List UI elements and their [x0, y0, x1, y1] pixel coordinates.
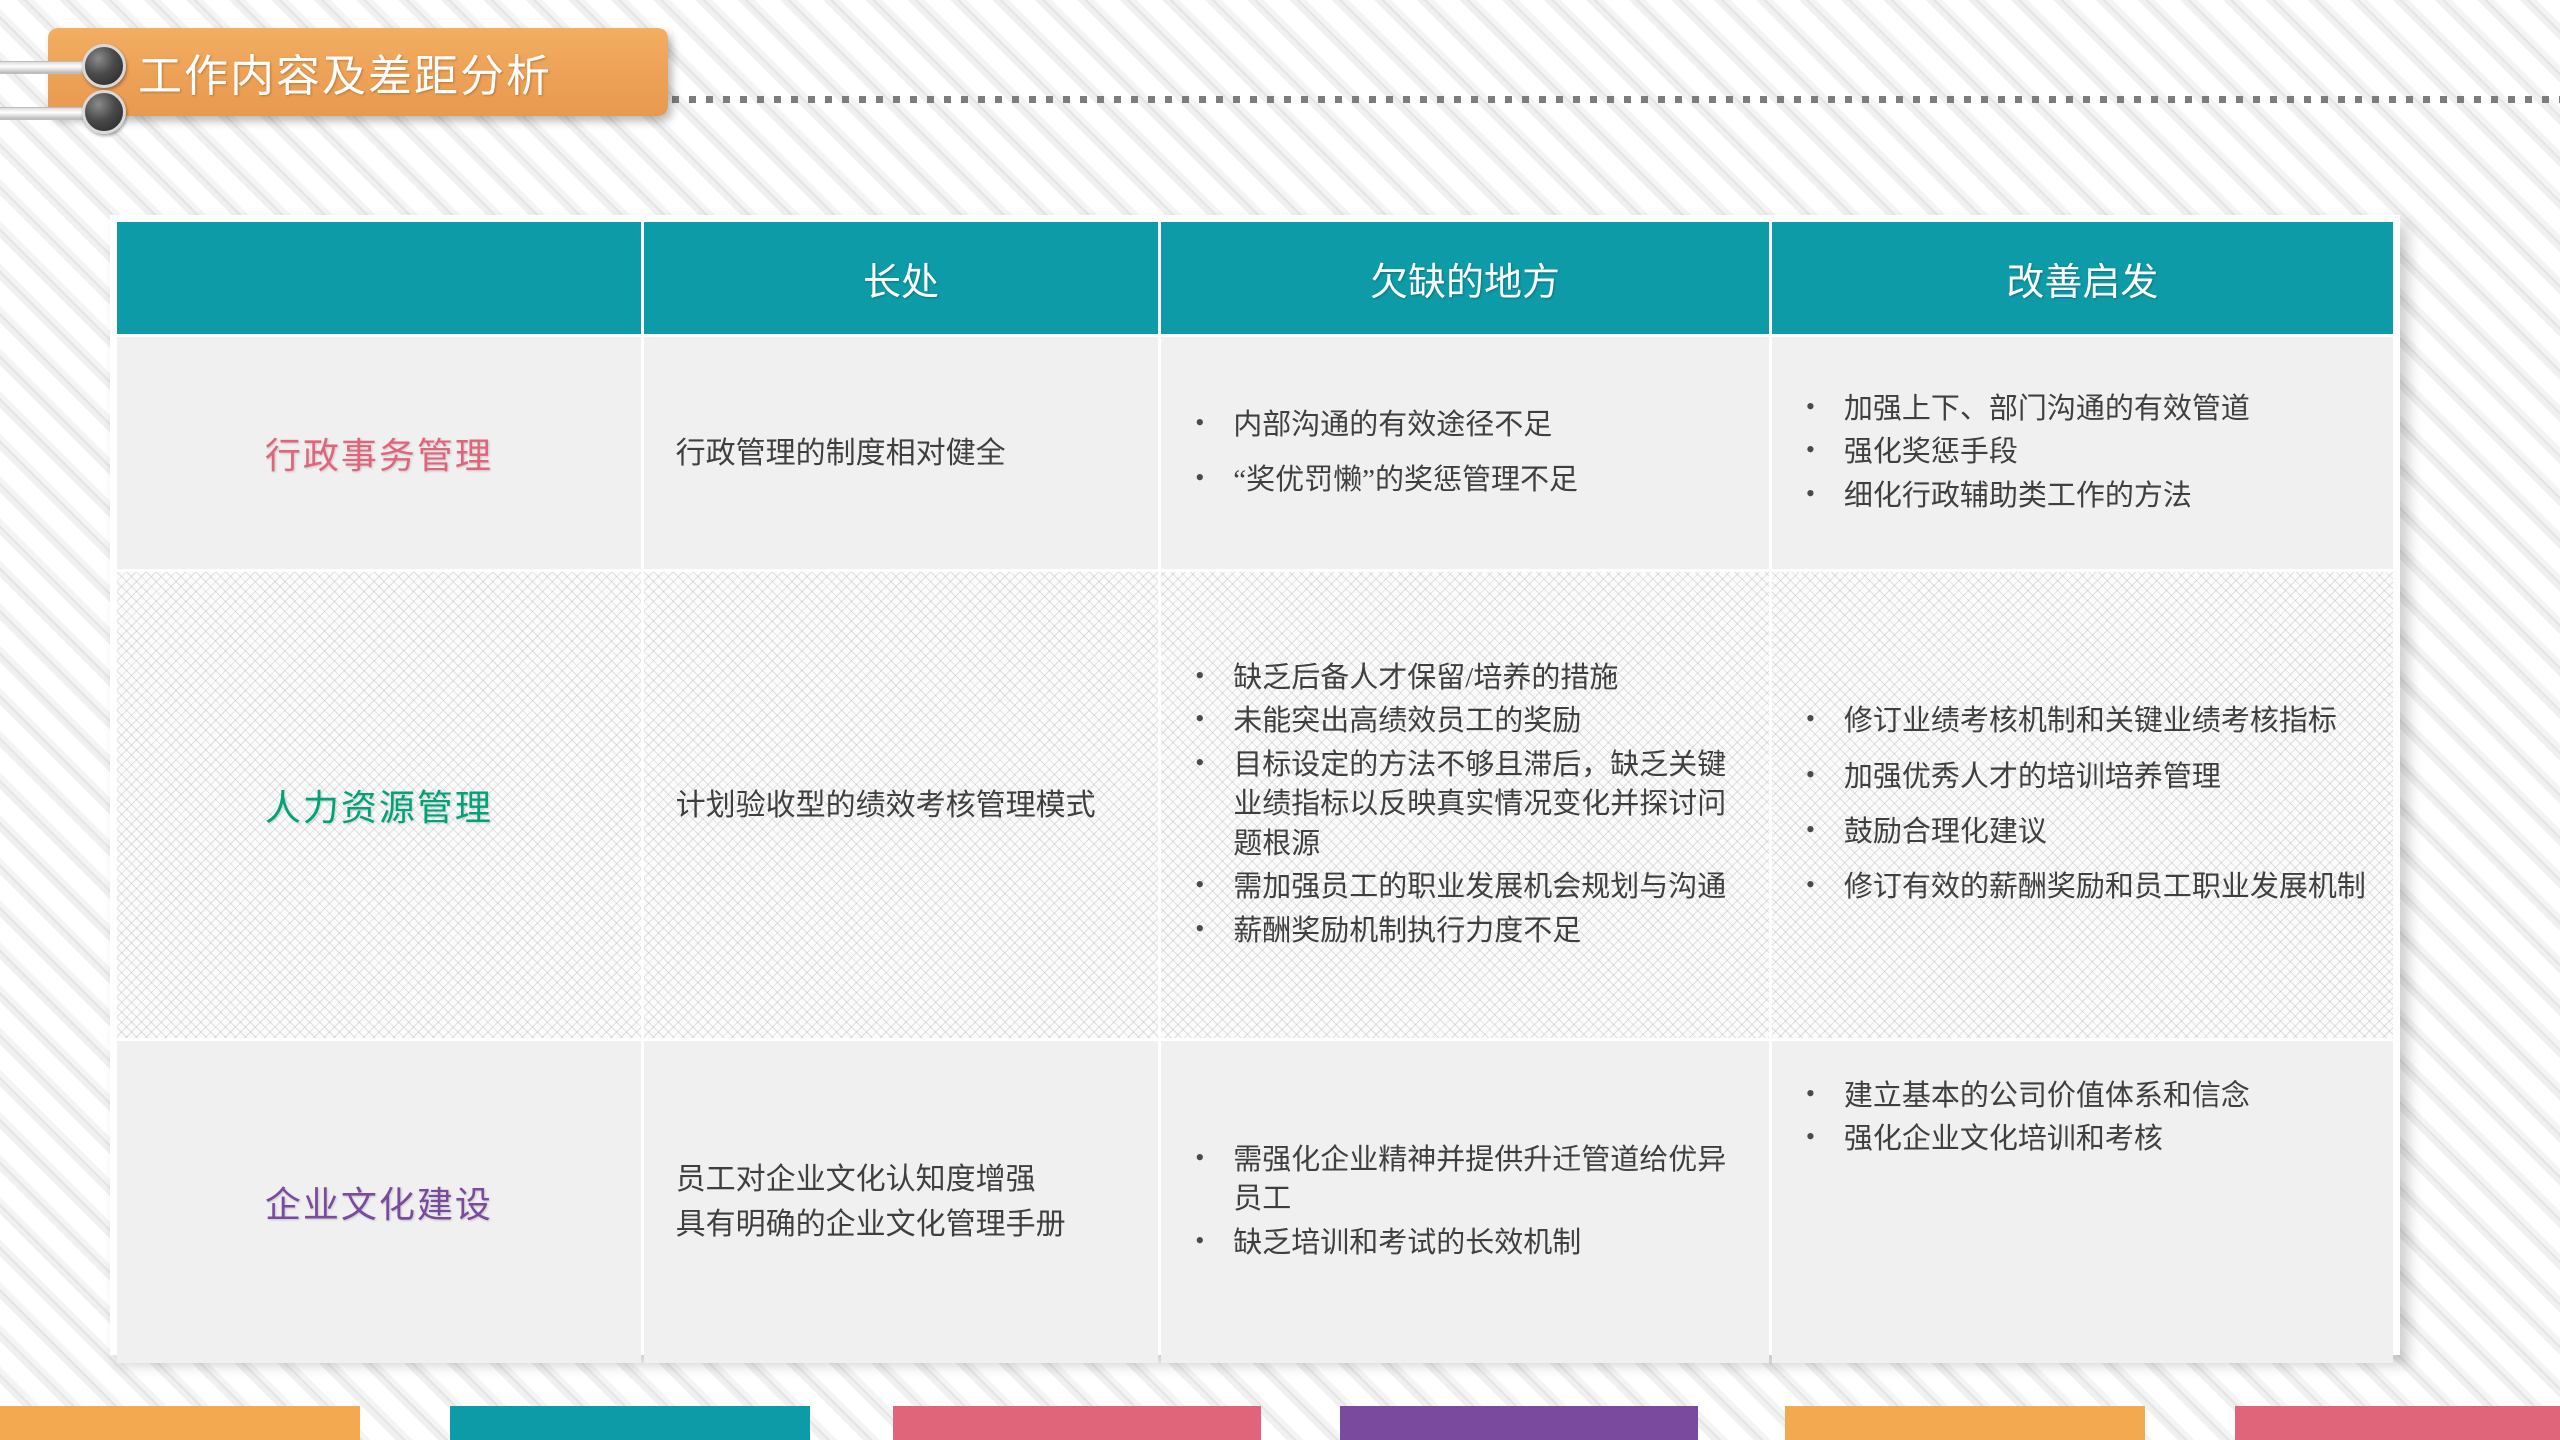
binder-ring-top-icon	[82, 44, 126, 88]
list-item: 需加强员工的职业发展机会规划与沟通	[1183, 868, 1747, 907]
list-item: “奖优罚懒”的奖惩管理不足	[1183, 461, 1747, 500]
slide-title-tab: 工作内容及差距分析	[48, 28, 668, 116]
row-improvements-cell: 建立基本的公司价值体系和信念 强化企业文化培训和考核	[1772, 1041, 2393, 1363]
list-item: 鼓励合理化建议	[1794, 813, 2371, 852]
row-category-label: 企业文化建设	[117, 1041, 641, 1363]
list-item: 未能突出高绩效员工的奖励	[1183, 702, 1747, 741]
list-item: 加强上下、部门沟通的有效管道	[1794, 390, 2371, 429]
list-item: 加强优秀人才的培训培养管理	[1794, 758, 2371, 797]
col-header-strengths: 长处	[644, 222, 1159, 334]
footer-bar-1	[0, 1406, 360, 1440]
row-improvements-cell: 加强上下、部门沟通的有效管道 强化奖惩手段 细化行政辅助类工作的方法	[1772, 337, 2393, 569]
list-item: 建立基本的公司价值体系和信念	[1794, 1077, 2371, 1116]
title-dotted-rule	[672, 96, 2560, 103]
row-strengths-text: 员工对企业文化认知度增强 具有明确的企业文化管理手册	[644, 1041, 1159, 1363]
footer-bar-6	[2235, 1406, 2560, 1440]
table-header-row: 长处 欠缺的地方 改善启发	[117, 222, 2393, 334]
footer-bar-2	[450, 1406, 810, 1440]
row-strengths-text: 计划验收型的绩效考核管理模式	[644, 572, 1159, 1038]
gaps-list: 需强化企业精神并提供升迁管道给优异员工 缺乏培训和考试的长效机制	[1183, 1141, 1747, 1263]
table-header: 长处 欠缺的地方 改善启发	[117, 222, 2393, 334]
list-item: 强化企业文化培训和考核	[1794, 1120, 2371, 1159]
list-item: 修订业绩考核机制和关键业绩考核指标	[1794, 702, 2371, 741]
list-item: 修订有效的薪酬奖励和员工职业发展机制	[1794, 868, 2371, 907]
gap-analysis-table: 长处 欠缺的地方 改善启发 行政事务管理 行政管理的制度相对健全 内部沟通的有效…	[114, 219, 2396, 1366]
row-improvements-cell: 修订业绩考核机制和关键业绩考核指标 加强优秀人才的培训培养管理 鼓励合理化建议 …	[1772, 572, 2393, 1038]
list-item: 缺乏培训和考试的长效机制	[1183, 1224, 1747, 1263]
list-item: 需强化企业精神并提供升迁管道给优异员工	[1183, 1141, 1747, 1220]
col-header-gaps: 欠缺的地方	[1161, 222, 1769, 334]
row-gaps-cell: 内部沟通的有效途径不足 “奖优罚懒”的奖惩管理不足	[1161, 337, 1769, 569]
list-item: 细化行政辅助类工作的方法	[1794, 477, 2371, 516]
row-gaps-cell: 缺乏后备人才保留/培养的措施 未能突出高绩效员工的奖励 目标设定的方法不够且滞后…	[1161, 572, 1769, 1038]
table-row: 人力资源管理 计划验收型的绩效考核管理模式 缺乏后备人才保留/培养的措施 未能突…	[117, 572, 2393, 1038]
list-item: 内部沟通的有效途径不足	[1183, 406, 1747, 445]
gaps-list: 内部沟通的有效途径不足 “奖优罚懒”的奖惩管理不足	[1183, 406, 1747, 501]
list-item: 目标设定的方法不够且滞后，缺乏关键业绩指标以反映真实情况变化并探讨问题根源	[1183, 746, 1747, 864]
table-row: 企业文化建设 员工对企业文化认知度增强 具有明确的企业文化管理手册 需强化企业精…	[117, 1041, 2393, 1363]
footer-bar-3	[893, 1406, 1261, 1440]
table-body: 行政事务管理 行政管理的制度相对健全 内部沟通的有效途径不足 “奖优罚懒”的奖惩…	[117, 337, 2393, 1363]
table-row: 行政事务管理 行政管理的制度相对健全 内部沟通的有效途径不足 “奖优罚懒”的奖惩…	[117, 337, 2393, 569]
footer-bar-5	[1785, 1406, 2145, 1440]
binder-ring-bottom-icon	[82, 90, 126, 134]
list-item: 缺乏后备人才保留/培养的措施	[1183, 659, 1747, 698]
slide-canvas: 工作内容及差距分析 长处 欠缺的地方 改善启发 行政事务管理 行政管理的制度相	[0, 0, 2560, 1440]
row-category-label: 行政事务管理	[117, 337, 641, 569]
gap-analysis-table-container: 长处 欠缺的地方 改善启发 行政事务管理 行政管理的制度相对健全 内部沟通的有效…	[110, 215, 2400, 1355]
list-item: 薪酬奖励机制执行力度不足	[1183, 912, 1747, 951]
row-strengths-text: 行政管理的制度相对健全	[644, 337, 1159, 569]
page-title: 工作内容及差距分析	[138, 40, 552, 104]
row-gaps-cell: 需强化企业精神并提供升迁管道给优异员工 缺乏培训和考试的长效机制	[1161, 1041, 1769, 1363]
col-header-category	[117, 222, 641, 334]
footer-bar-4	[1340, 1406, 1698, 1440]
row-category-label: 人力资源管理	[117, 572, 641, 1038]
improvements-list: 修订业绩考核机制和关键业绩考核指标 加强优秀人才的培训培养管理 鼓励合理化建议 …	[1794, 702, 2371, 908]
col-header-improvements: 改善启发	[1772, 222, 2393, 334]
improvements-list: 建立基本的公司价值体系和信念 强化企业文化培训和考核	[1794, 1077, 2371, 1160]
list-item: 强化奖惩手段	[1794, 433, 2371, 472]
gaps-list: 缺乏后备人才保留/培养的措施 未能突出高绩效员工的奖励 目标设定的方法不够且滞后…	[1183, 659, 1747, 951]
improvements-list: 加强上下、部门沟通的有效管道 强化奖惩手段 细化行政辅助类工作的方法	[1794, 390, 2371, 516]
